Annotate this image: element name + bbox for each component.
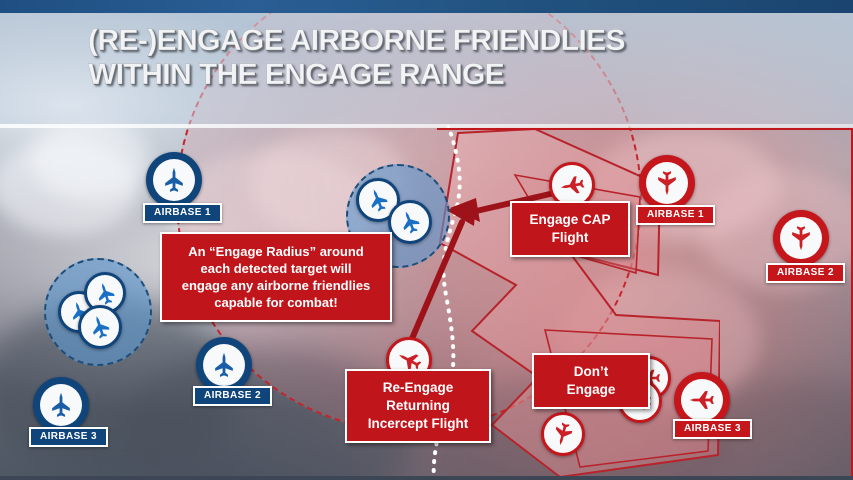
marker-inner-disc [40, 384, 82, 426]
callout-line: Incercept Flight [357, 415, 479, 433]
callout-line: Engage CAP [522, 211, 618, 229]
top-accent-band [0, 0, 853, 13]
callout-line: An “Engage Radius” around [172, 243, 380, 260]
title-banner-underline [0, 124, 853, 128]
callout-line: each detected target will [172, 260, 380, 277]
jet-down-icon [653, 169, 681, 197]
jet-down-icon [547, 418, 579, 450]
callout-line: capable for combat! [172, 294, 380, 311]
blue-intercept-flight-icon[interactable] [388, 200, 432, 244]
callout-dont-engage: Don’t Engage [532, 353, 650, 409]
marker-inner-disc [153, 159, 195, 201]
red-airbase-1-marker[interactable] [639, 155, 695, 211]
callout-line: Don’t [544, 363, 638, 381]
jet-up-icon [47, 391, 75, 419]
marker-inner-disc [780, 217, 822, 259]
callout-line: engage any airborne friendlies [172, 277, 380, 294]
blue-airbase-1-label: AIRBASE 1 [143, 203, 222, 223]
red-airbase-1-label: AIRBASE 1 [636, 205, 715, 225]
marker-inner-disc [681, 379, 723, 421]
slide-title: (RE-)ENGAGE AIRBORNE FRIENDLIES WITHIN T… [88, 24, 788, 92]
blue-airbase-2-label: AIRBASE 2 [193, 386, 272, 406]
red-airbase-2-marker[interactable] [773, 210, 829, 266]
slide-canvas: AIRBASE 1 AIRBASE 2 AIRBASE 3 AIRBASE 1 [0, 0, 853, 480]
blue-airbase-3-marker[interactable] [33, 377, 89, 433]
callout-line: Returning [357, 397, 479, 415]
red-airbase-3-label: AIRBASE 3 [673, 419, 752, 439]
title-line-2: WITHIN THE ENGAGE RANGE [88, 58, 788, 92]
jet-up-icon [160, 166, 188, 194]
jet-up-icon [393, 205, 427, 239]
marker-inner-disc [203, 344, 245, 386]
jet-up-icon [210, 351, 238, 379]
blue-flight-icon[interactable] [78, 305, 122, 349]
marker-inner-disc [646, 162, 688, 204]
jet-left-icon [556, 169, 587, 200]
red-patrol-flight-icon[interactable] [541, 412, 585, 456]
blue-airbase-3-label: AIRBASE 3 [29, 427, 108, 447]
jet-up-icon [84, 311, 117, 344]
callout-line: Re-Engage [357, 379, 479, 397]
jet-down-icon [787, 224, 815, 252]
jet-up-icon [89, 277, 121, 309]
bottom-accent-band [0, 476, 853, 480]
blue-airbase-2-marker[interactable] [196, 337, 252, 393]
title-line-1: (RE-)ENGAGE AIRBORNE FRIENDLIES [88, 24, 788, 58]
red-airbase-2-label: AIRBASE 2 [766, 263, 845, 283]
callout-line: Engage [544, 381, 638, 399]
callout-line: Flight [522, 229, 618, 247]
callout-engage-radius-explainer: An “Engage Radius” around each detected … [160, 232, 392, 322]
blue-airbase-1-marker[interactable] [146, 152, 202, 208]
callout-re-engage-returning: Re-Engage Returning Incercept Flight [345, 369, 491, 443]
jet-left-icon [688, 386, 716, 414]
callout-engage-cap-flight: Engage CAP Flight [510, 201, 630, 257]
